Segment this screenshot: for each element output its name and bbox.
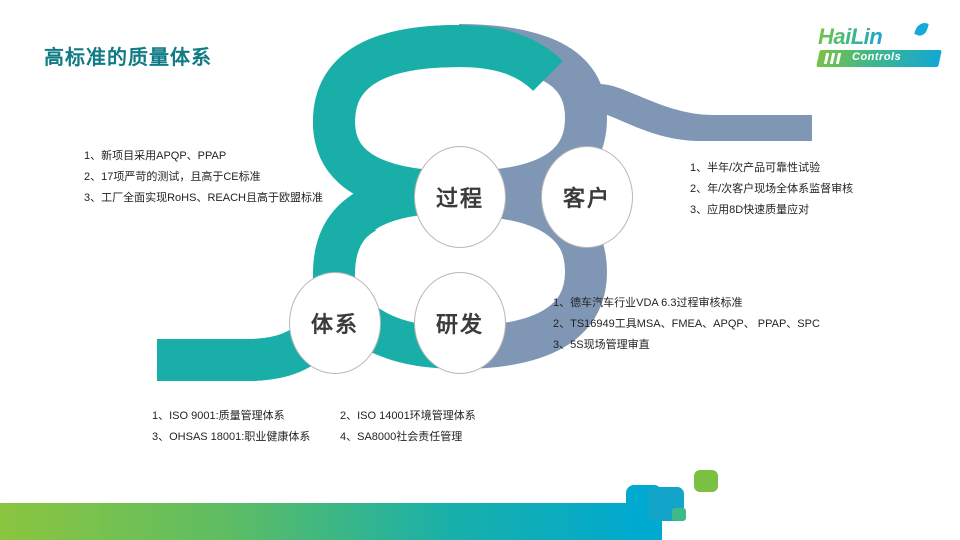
list-item: 2、TS16949工具MSA、FMEA、APQP、 PPAP、SPC [553, 314, 820, 335]
deco-square-green-small [672, 508, 686, 521]
list-item: 3、OHSAS 18001:职业健康体系 [152, 427, 340, 448]
node-rd[interactable]: 研发 [414, 272, 506, 374]
text-block-mid-right: 1、德车汽车行业VDA 6.3过程审核标准 2、TS16949工具MSA、FME… [553, 293, 820, 356]
list-item: 2、17项严苛的测试，且高于CE标准 [84, 167, 323, 188]
list-item: 2、年/次客户现场全体系监督审核 [690, 179, 853, 200]
list-item: 2、ISO 14001环境管理体系 [340, 406, 476, 427]
table-row: 3、OHSAS 18001:职业健康体系 4、SA8000社会责任管理 [152, 427, 476, 448]
list-item: 3、5S现场管理审直 [553, 335, 820, 356]
node-system[interactable]: 体系 [289, 272, 381, 374]
table-row: 1、ISO 9001:质量管理体系 2、ISO 14001环境管理体系 [152, 406, 476, 427]
ribbon-tail-right-cap [700, 115, 812, 141]
text-block-bottom: 1、ISO 9001:质量管理体系 2、ISO 14001环境管理体系 3、OH… [152, 406, 476, 448]
ribbon-tail-left-cap [157, 339, 257, 381]
node-customer-label: 客户 [563, 181, 611, 213]
list-item: 1、德车汽车行业VDA 6.3过程审核标准 [553, 293, 820, 314]
node-process[interactable]: 过程 [414, 146, 506, 248]
list-item: 4、SA8000社会责任管理 [340, 427, 462, 448]
text-block-top-left: 1、新项目采用APQP、PPAP 2、17项严苛的测试，且高于CE标准 3、工厂… [84, 146, 323, 209]
list-item: 1、半年/次产品可靠性试验 [690, 158, 853, 179]
list-item: 1、ISO 9001:质量管理体系 [152, 406, 340, 427]
ribbon-top-loop-teal-right [459, 46, 548, 76]
list-item: 3、应用8D快速质量应对 [690, 200, 853, 221]
slide-canvas: 高标准的质量体系 HaiLin Controls [0, 0, 960, 540]
node-system-label: 体系 [311, 307, 359, 339]
process-ribbon-overlay [0, 0, 960, 540]
text-block-top-right: 1、半年/次产品可靠性试验 2、年/次客户现场全体系监督审核 3、应用8D快速质… [690, 158, 853, 221]
node-rd-label: 研发 [436, 307, 484, 339]
node-process-label: 过程 [436, 181, 484, 213]
list-item: 3、工厂全面实现RoHS、REACH且高于欧盟标准 [84, 188, 323, 209]
footer-gradient-bar [0, 503, 640, 540]
deco-square-green-large [694, 470, 718, 492]
list-item: 1、新项目采用APQP、PPAP [84, 146, 323, 167]
node-customer[interactable]: 客户 [541, 146, 633, 248]
